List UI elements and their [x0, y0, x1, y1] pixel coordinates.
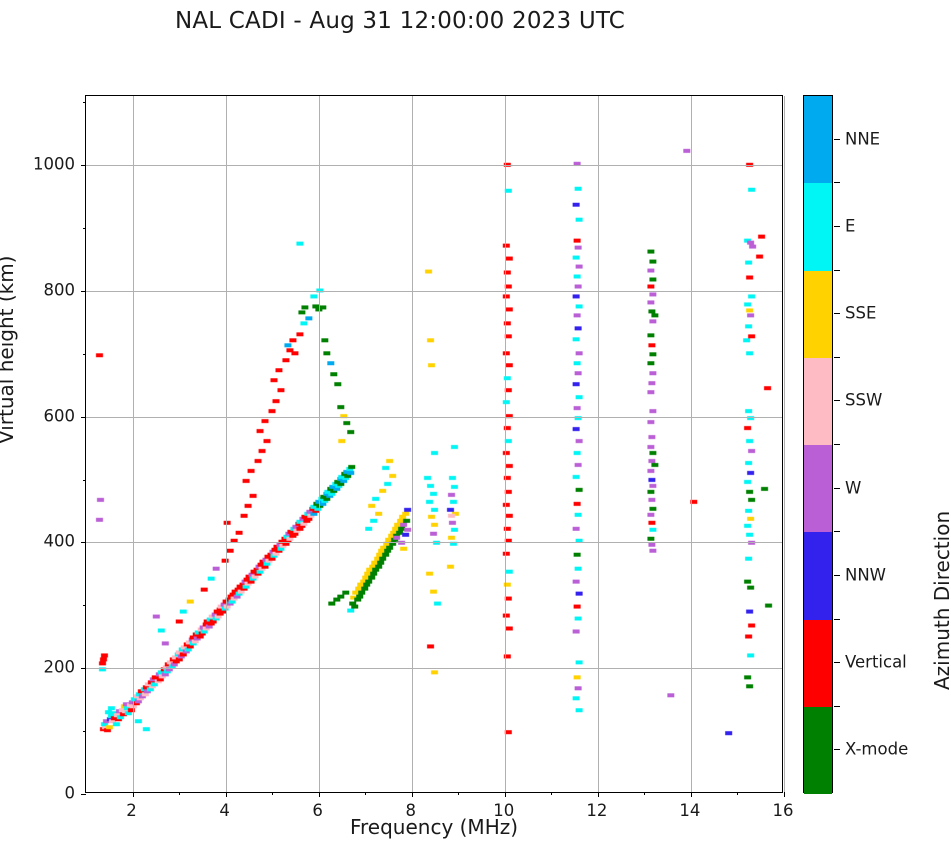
x-tick	[319, 792, 320, 797]
y-tick	[81, 794, 86, 795]
x-tick-label: 2	[126, 801, 137, 820]
x-tick-minor	[644, 792, 645, 795]
colorbar-tick	[834, 575, 840, 576]
y-tick-minor	[83, 102, 86, 103]
colorbar-label: NNE	[845, 129, 880, 148]
gridline-horizontal	[86, 417, 782, 418]
colorbar-tick	[834, 749, 840, 750]
y-tick-label: 400	[44, 532, 76, 551]
colorbar-label: X-mode	[845, 740, 908, 759]
gridline-vertical	[784, 96, 785, 792]
colorbar-boundary-tick	[834, 270, 840, 271]
colorbar-boundary-tick	[834, 619, 840, 620]
y-tick-label: 1000	[33, 155, 75, 174]
x-tick-label: 8	[405, 801, 416, 820]
x-tick-minor	[179, 792, 180, 795]
x-tick-label: 10	[493, 801, 514, 820]
colorbar-label: Vertical	[845, 653, 907, 672]
gridline-vertical	[133, 96, 134, 792]
colorbar-tick	[834, 488, 840, 489]
x-tick-label: 6	[312, 801, 323, 820]
colorbar-segment	[804, 358, 832, 445]
y-tick	[81, 668, 86, 669]
colorbar-segment	[804, 445, 832, 532]
x-tick-label: 4	[219, 801, 230, 820]
x-tick-minor	[272, 792, 273, 795]
y-tick-minor	[83, 731, 86, 732]
x-axis-title: Frequency (MHz)	[85, 815, 783, 839]
y-tick-minor	[83, 480, 86, 481]
x-tick	[505, 792, 506, 797]
y-tick-minor	[83, 354, 86, 355]
x-tick-minor	[737, 792, 738, 795]
x-tick-label: 12	[586, 801, 607, 820]
y-tick-minor	[83, 605, 86, 606]
colorbar-title: Azimuth Direction	[930, 511, 951, 690]
y-tick	[81, 417, 86, 418]
gridline-horizontal	[86, 668, 782, 669]
colorbar-tick	[834, 400, 840, 401]
colorbar-tick	[834, 226, 840, 227]
colorbar-label: NNW	[845, 565, 886, 584]
gridline-horizontal	[86, 542, 782, 543]
x-tick-minor	[365, 792, 366, 795]
x-tick	[412, 792, 413, 797]
gridline-vertical	[691, 96, 692, 792]
gridline-vertical	[319, 96, 320, 792]
colorbar-segment	[804, 532, 832, 619]
ionogram-scatter-canvas	[86, 96, 782, 792]
colorbar-label: E	[845, 216, 855, 235]
colorbar-label: SSE	[845, 304, 876, 323]
x-tick-label: 16	[773, 801, 794, 820]
x-tick	[784, 792, 785, 797]
colorbar-segment	[804, 620, 832, 707]
colorbar-label: SSW	[845, 391, 882, 410]
x-tick-minor	[551, 792, 552, 795]
x-tick	[226, 792, 227, 797]
colorbar-segment	[804, 707, 832, 794]
colorbar-boundary-tick	[834, 182, 840, 183]
colorbar-tick	[834, 313, 840, 314]
y-tick	[81, 542, 86, 543]
x-tick-minor	[458, 792, 459, 795]
gridline-horizontal	[86, 165, 782, 166]
gridline-horizontal	[86, 291, 782, 292]
y-tick-minor	[83, 228, 86, 229]
y-axis-title: Virtual height (km)	[0, 256, 18, 445]
y-tick	[81, 291, 86, 292]
gridline-vertical	[598, 96, 599, 792]
gridline-vertical	[505, 96, 506, 792]
colorbar-boundary-tick	[834, 531, 840, 532]
plot-area	[85, 95, 783, 793]
x-tick-label: 14	[679, 801, 700, 820]
y-tick-label: 0	[65, 784, 76, 803]
colorbar-tick	[834, 139, 840, 140]
x-tick	[133, 792, 134, 797]
colorbar-segment	[804, 271, 832, 358]
x-tick	[691, 792, 692, 797]
colorbar-segment	[804, 96, 832, 183]
x-tick	[598, 792, 599, 797]
y-tick-label: 600	[44, 406, 76, 425]
gridline-vertical	[412, 96, 413, 792]
page-title: NAL CADI - Aug 31 12:00:00 2023 UTC	[0, 8, 800, 34]
colorbar-segment	[804, 183, 832, 270]
colorbar-tick	[834, 662, 840, 663]
y-tick-label: 800	[44, 280, 76, 299]
y-tick	[81, 165, 86, 166]
colorbar-label: W	[845, 478, 861, 497]
y-tick-label: 200	[44, 658, 76, 677]
colorbar-boundary-tick	[834, 357, 840, 358]
colorbar-boundary-tick	[834, 444, 840, 445]
gridline-vertical	[226, 96, 227, 792]
colorbar-boundary-tick	[834, 706, 840, 707]
colorbar	[803, 95, 833, 793]
